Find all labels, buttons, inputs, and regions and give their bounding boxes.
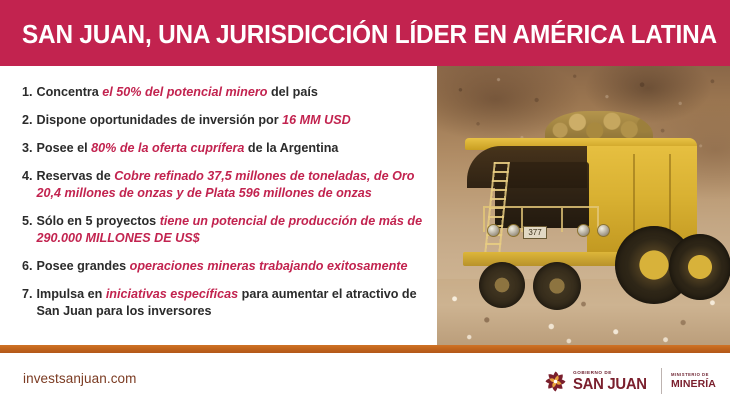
list-item-number: 2. (22, 112, 37, 129)
orange-divider (0, 345, 730, 353)
list-item-text: Concentra el 50% del potencial minero de… (37, 84, 425, 101)
truck-wheel (479, 262, 525, 308)
government-name: SAN JUAN (573, 377, 647, 392)
footer-logos: GOBIERNO DE SAN JUAN MINISTERIO DE MINER… (543, 365, 716, 397)
list-item-number: 3. (22, 140, 37, 157)
list-item-text: Reservas de Cobre refinado 37,5 millones… (37, 168, 425, 202)
plain-phrase: Impulsa en (37, 287, 106, 301)
ministry-name: MINERÍA (671, 379, 716, 390)
list-item-text: Posee grandes operaciones mineras trabaj… (37, 258, 425, 275)
list-item: 3.Posee el 80% de la oferta cuprífera de… (0, 140, 437, 157)
list-item-number: 1. (22, 84, 37, 101)
mining-truck-photo: 377 (437, 66, 730, 345)
highlighted-phrase: operaciones mineras trabajando exitosame… (130, 259, 408, 273)
list-item: 4.Reservas de Cobre refinado 37,5 millon… (0, 168, 437, 202)
benefits-list: 1.Concentra el 50% del potencial minero … (0, 66, 437, 345)
plain-phrase: Reservas de (37, 169, 115, 183)
headlamp-icon (487, 224, 500, 237)
highlighted-phrase: iniciativas específicas (106, 287, 238, 301)
list-item: 5.Sólo en 5 proyectos tiene un potencial… (0, 213, 437, 247)
headlamp-icon (597, 224, 610, 237)
government-wordmark: GOBIERNO DE SAN JUAN (573, 370, 650, 392)
list-item-number: 6. (22, 258, 37, 275)
plain-phrase: Posee el (37, 141, 92, 155)
ministry-wordmark: MINISTERIO DE MINERÍA (671, 372, 716, 390)
logo-divider (661, 368, 662, 394)
plain-phrase: Posee grandes (37, 259, 130, 273)
plain-phrase: de la Argentina (244, 141, 338, 155)
list-item-text: Posee el 80% de la oferta cuprífera de l… (37, 140, 425, 157)
list-item-text: Sólo en 5 proyectos tiene un potencial d… (37, 213, 425, 247)
plain-phrase: del país (267, 85, 317, 99)
page-title: SAN JUAN, UNA JURISDICCIÓN LÍDER EN AMÉR… (22, 20, 677, 50)
headlamp-icon (577, 224, 590, 237)
highlighted-phrase: el 50% del potencial minero (102, 85, 267, 99)
truck-headlamp-row (481, 224, 621, 238)
list-item: 2.Dispone oportunidades de inversión por… (0, 112, 437, 129)
list-item: 6.Posee grandes operaciones mineras trab… (0, 258, 437, 275)
haul-truck-illustration: 377 (437, 66, 730, 345)
plain-phrase: Concentra (37, 85, 103, 99)
san-juan-sun-icon (543, 369, 568, 394)
list-item: 1.Concentra el 50% del potencial minero … (0, 84, 437, 101)
highlighted-phrase: 16 MM USD (282, 113, 351, 127)
list-item-number: 5. (22, 213, 37, 230)
truck-wheel (533, 262, 581, 310)
list-item-text: Dispone oportunidades de inversión por 1… (37, 112, 425, 129)
infographic-poster: SAN JUAN, UNA JURISDICCIÓN LÍDER EN AMÉR… (0, 0, 730, 410)
website-url[interactable]: investsanjuan.com (23, 371, 137, 386)
footer: investsanjuan.com (0, 353, 730, 410)
list-item: 7.Impulsa en iniciativas específicas par… (0, 286, 437, 320)
plain-phrase: Dispone oportunidades de inversión por (37, 113, 283, 127)
list-item-text: Impulsa en iniciativas específicas para … (37, 286, 425, 320)
highlighted-phrase: 80% de la oferta cuprífera (91, 141, 244, 155)
truck-number-plate: 377 (523, 226, 547, 239)
headlamp-icon (507, 224, 520, 237)
truck-wheel (669, 234, 730, 300)
list-item-number: 7. (22, 286, 37, 303)
plain-phrase: Sólo en 5 proyectos (37, 214, 160, 228)
list-item-number: 4. (22, 168, 37, 185)
